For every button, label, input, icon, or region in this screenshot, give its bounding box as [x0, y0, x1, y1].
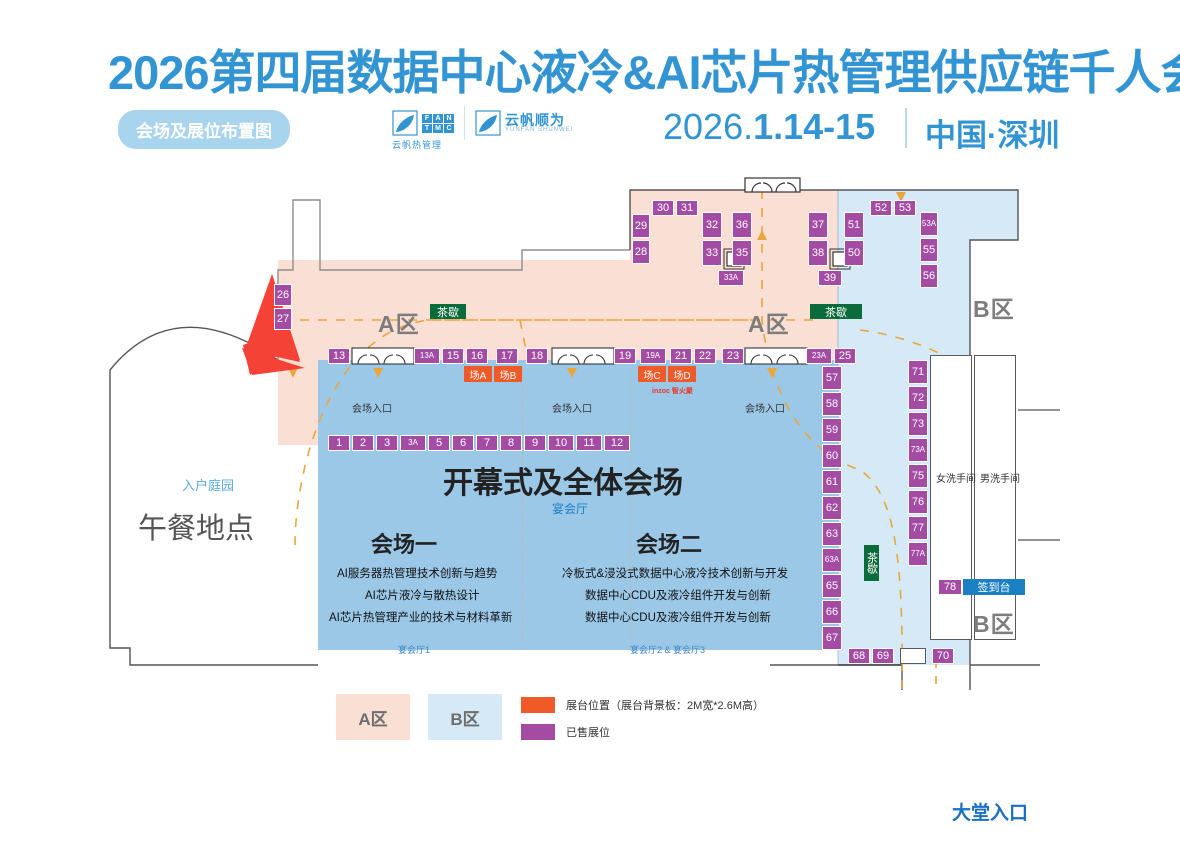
booth-7[interactable]: 7: [476, 435, 498, 451]
booth-33[interactable]: 33: [702, 240, 722, 266]
hall-left-item-1: AI服务器热管理技术创新与趋势: [337, 565, 497, 581]
page-title: 2026第四届数据中心液冷&AI芯片热管理供应链千人会: [108, 34, 1180, 103]
hall-right-foot: 宴会厅2 & 宴会厅3: [630, 643, 705, 656]
booth-69[interactable]: 69: [872, 648, 894, 664]
booth-33a[interactable]: 33A: [718, 270, 744, 286]
event-city: 中国·深圳: [925, 110, 1059, 155]
booth-77a[interactable]: 77A: [908, 542, 928, 566]
courtyard-label: 入户庭园: [182, 475, 234, 494]
stage-b[interactable]: 场B: [494, 366, 522, 382]
booth-73a[interactable]: 73A: [908, 438, 928, 462]
stage-a[interactable]: 场A: [464, 366, 492, 382]
stage-c[interactable]: 场C: [638, 366, 666, 382]
booth-53a[interactable]: 53A: [920, 212, 938, 236]
booth-65[interactable]: 65: [822, 574, 842, 598]
booth-32[interactable]: 32: [702, 212, 722, 238]
booth-5[interactable]: 5: [428, 435, 450, 451]
booth-16[interactable]: 16: [466, 348, 488, 364]
booth-11[interactable]: 11: [576, 435, 602, 451]
booth-2[interactable]: 2: [352, 435, 374, 451]
logo-divider: [464, 106, 465, 140]
legend-zone-a: A区: [336, 694, 410, 740]
hall-right-item-2: 数据中心CDU及液冷组件开发与创新: [585, 587, 771, 603]
booth-28[interactable]: 28: [632, 240, 650, 264]
fan-letter: F: [422, 114, 432, 123]
booth-13[interactable]: 13: [328, 348, 350, 364]
restroom-men-label: 男洗手间: [980, 470, 1020, 485]
booth-55[interactable]: 55: [920, 238, 938, 262]
booth-31[interactable]: 31: [676, 200, 698, 216]
booth-3[interactable]: 3: [376, 435, 398, 451]
booth-57[interactable]: 57: [822, 366, 842, 390]
booth-72[interactable]: 72: [908, 386, 928, 410]
legend-swatch-purple: [521, 724, 555, 740]
booth-37[interactable]: 37: [808, 212, 828, 238]
booth-17[interactable]: 17: [496, 348, 518, 364]
lobby-entrance-label: 大堂入口: [952, 798, 1028, 825]
booth-77[interactable]: 77: [908, 516, 928, 540]
booth-73[interactable]: 73: [908, 412, 928, 436]
lunch-area-label: 午餐地点: [138, 505, 254, 547]
tea-break-b: 茶歇: [864, 545, 879, 581]
hall-title: 开幕式及全体会场: [443, 458, 683, 502]
hall-entry-3: 会场入口: [745, 400, 785, 415]
booth-39[interactable]: 39: [818, 270, 842, 286]
logo-group: F A N T M C 云帆顺为 YUNFAN SHUNWEI: [392, 106, 573, 140]
header-divider: [905, 108, 907, 148]
fan-logo-icon: [392, 110, 418, 136]
fan-letter: M: [433, 124, 443, 133]
booth-70[interactable]: 70: [932, 648, 954, 664]
booth-25[interactable]: 25: [834, 348, 856, 364]
restroom-women-room: [930, 355, 972, 640]
booth-63[interactable]: 63: [822, 522, 842, 546]
booth-52[interactable]: 52: [870, 200, 892, 216]
booth-23a[interactable]: 23A: [806, 348, 832, 364]
restroom-men-room: [974, 355, 1016, 640]
zone-b-label-bottom: B区: [973, 605, 1015, 639]
shunwei-cn: 云帆顺为: [505, 113, 573, 128]
booth-26[interactable]: 26: [274, 284, 292, 306]
fan-letter: T: [422, 124, 432, 133]
hall-right-name: 会场二: [636, 527, 702, 559]
date-days: 1.14-15: [753, 106, 875, 148]
inzoc-logo: inzoc 智火聚: [652, 386, 693, 396]
booth-18[interactable]: 18: [526, 348, 548, 364]
logo-fantmc: F A N T M C: [392, 110, 454, 136]
booth-13a[interactable]: 13A: [414, 348, 440, 364]
booth-30[interactable]: 30: [652, 200, 674, 216]
fan-letter: N: [444, 114, 454, 123]
booth-23[interactable]: 23: [722, 348, 744, 364]
shunwei-en: YUNFAN SHUNWEI: [505, 127, 573, 133]
booth-59[interactable]: 59: [822, 418, 842, 442]
booth-3a[interactable]: 3A: [400, 435, 426, 451]
booth-6[interactable]: 6: [452, 435, 474, 451]
hall-right-item-1: 冷板式&浸没式数据中心液冷技术创新与开发: [562, 565, 788, 581]
fan-letter: C: [444, 124, 454, 133]
hall-left-foot: 宴会厅1: [398, 643, 430, 656]
booth-15[interactable]: 15: [442, 348, 464, 364]
booth-22[interactable]: 22: [694, 348, 716, 364]
hall-left-name: 会场一: [371, 527, 437, 559]
date-year: 2026.: [663, 106, 753, 148]
registration-desk[interactable]: 签到台: [963, 579, 1025, 595]
hall-right-item-3: 数据中心CDU及液冷组件开发与创新: [585, 609, 771, 625]
booth-58[interactable]: 58: [822, 392, 842, 416]
floorplan-page: 2026第四届数据中心液冷&AI芯片热管理供应链千人会 会场及展位布置图 F A…: [0, 0, 1180, 843]
hall-subtitle: 宴会厅: [552, 500, 588, 517]
subtitle-pill: 会场及展位布置图: [118, 110, 290, 149]
booth-8[interactable]: 8: [500, 435, 522, 451]
zone-a-label-left: A区: [378, 305, 420, 339]
legend-orange-text: 展台位置（展台背景板：2M宽*2.6M高）: [566, 697, 764, 713]
booth-56[interactable]: 56: [920, 264, 938, 288]
hall-divider-2: [630, 370, 631, 650]
booth-21[interactable]: 21: [670, 348, 692, 364]
legend-swatch-orange: [521, 697, 555, 713]
legend-purple-text: 已售展位: [566, 724, 610, 740]
fan-letter: A: [433, 114, 443, 123]
stage-d[interactable]: 场D: [668, 366, 696, 382]
shunwei-logo-icon: [475, 110, 501, 136]
booth-51[interactable]: 51: [844, 212, 864, 238]
zone-b-label-top: B区: [973, 290, 1015, 324]
booth-67[interactable]: 67: [822, 626, 842, 650]
tea-break-a-left: 茶歇: [430, 304, 466, 319]
floorplan: 女洗手间 男洗手间 A区 A区 B区 B区 茶歇 茶歇 茶歇 1 2 3 3A …: [0, 170, 1180, 690]
booth-1[interactable]: 1: [328, 435, 350, 451]
zone-a-label-right: A区: [748, 305, 790, 339]
booth-78[interactable]: 78: [938, 579, 962, 595]
booth-66[interactable]: 66: [822, 600, 842, 624]
booth-36[interactable]: 36: [732, 212, 752, 238]
logo-yunfan-shunwei: 云帆顺为 YUNFAN SHUNWEI: [475, 110, 573, 136]
booth-10[interactable]: 10: [548, 435, 574, 451]
booth-75[interactable]: 75: [908, 464, 928, 488]
fantmc-letter-grid: F A N T M C: [422, 114, 454, 133]
hall-left-item-3: AI芯片热管理产业的技术与材料革新: [329, 609, 512, 625]
legend-zone-b: B区: [428, 694, 502, 740]
booth-62[interactable]: 62: [822, 496, 842, 520]
booth-27[interactable]: 27: [274, 308, 292, 330]
booth-50[interactable]: 50: [844, 240, 864, 266]
booth-71[interactable]: 71: [908, 360, 928, 384]
booth-35[interactable]: 35: [732, 240, 752, 266]
booth-12[interactable]: 12: [604, 435, 630, 451]
event-date: 2026.1.14-15: [663, 106, 875, 148]
booth-61[interactable]: 61: [822, 470, 842, 494]
hall-divider-1: [522, 370, 523, 650]
fantmc-cn: 云帆热管理: [392, 138, 442, 151]
restroom-women-label: 女洗手间: [936, 470, 976, 485]
booth-60[interactable]: 60: [822, 444, 842, 468]
booth-9[interactable]: 9: [524, 435, 546, 451]
booth-53[interactable]: 53: [894, 200, 916, 216]
booth-empty-slot: [900, 648, 926, 664]
booth-29[interactable]: 29: [632, 214, 650, 238]
booth-76[interactable]: 76: [908, 490, 928, 514]
booth-68[interactable]: 68: [848, 648, 870, 664]
booth-38[interactable]: 38: [808, 240, 828, 266]
hall-entry-1: 会场入口: [352, 400, 392, 415]
hall-entry-2: 会场入口: [552, 400, 592, 415]
booth-63a[interactable]: 63A: [822, 548, 842, 572]
booth-19[interactable]: 19: [614, 348, 636, 364]
booth-19a[interactable]: 19A: [640, 348, 666, 364]
tea-break-a-right: 茶歇: [810, 304, 862, 319]
hall-left-item-2: AI芯片液冷与散热设计: [365, 587, 479, 603]
